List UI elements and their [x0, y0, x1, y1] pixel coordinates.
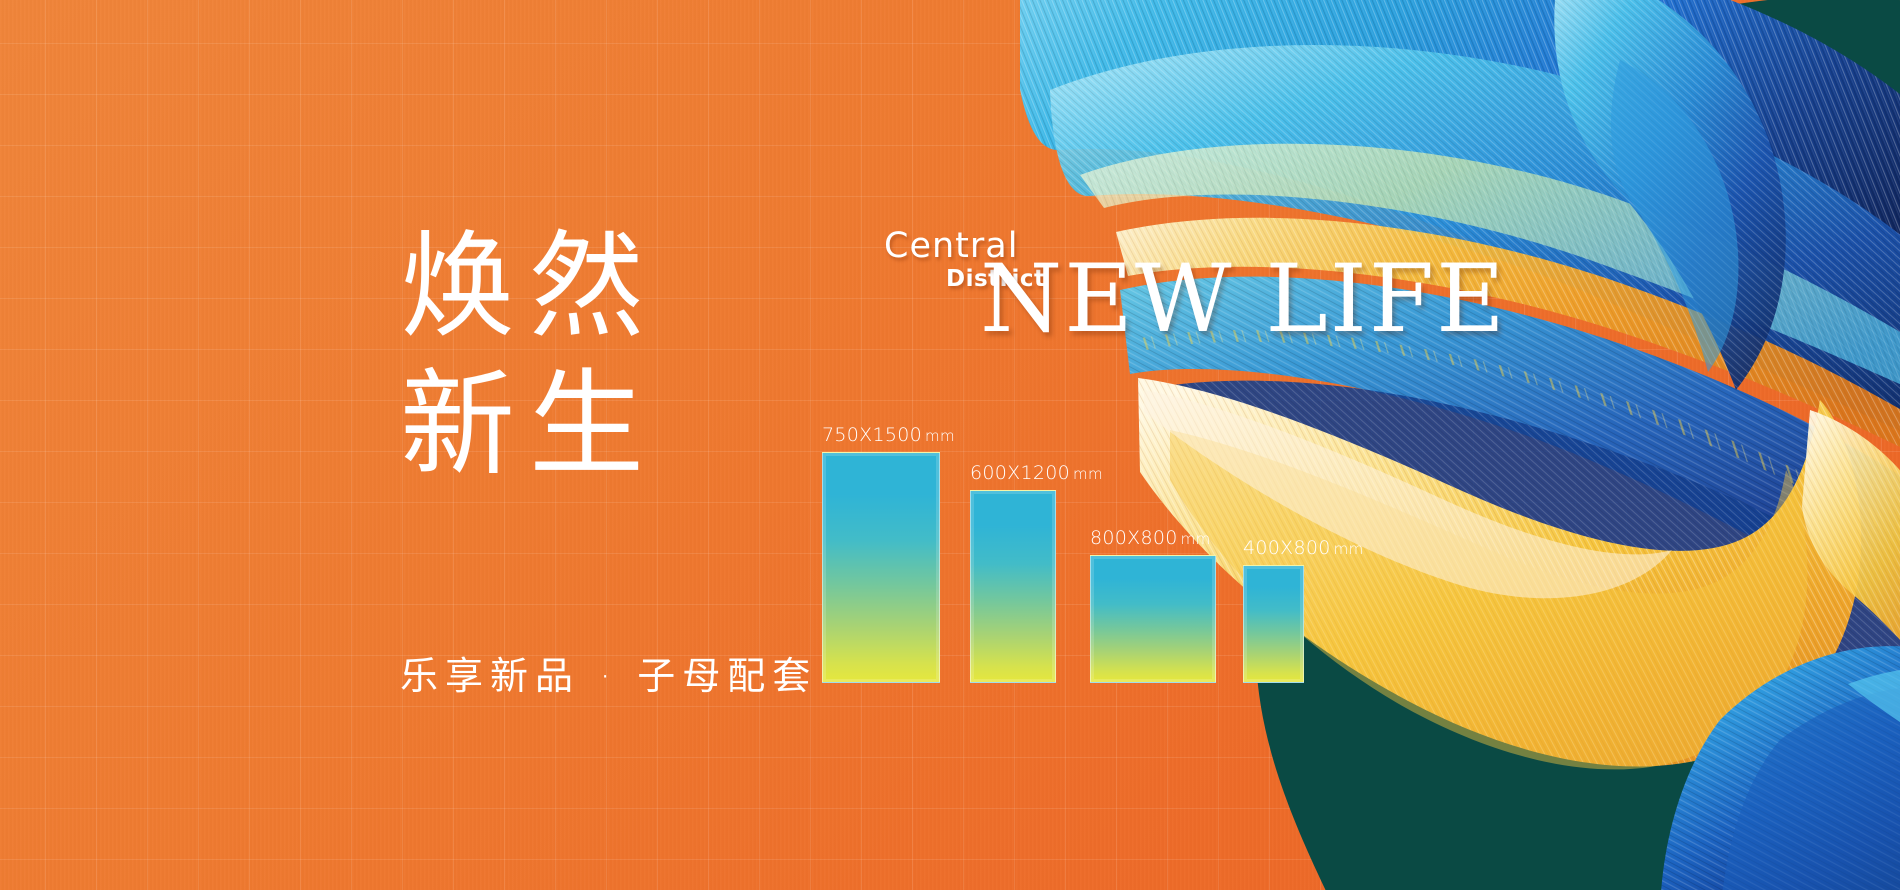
chart-bar-2[interactable]: 600X1200mm [970, 490, 1056, 683]
fan-top-right-petal [1554, 0, 1785, 390]
chart-bar-1[interactable]: 750X1500mm [822, 452, 940, 683]
chart-bar-label-4: 400X800mm [1243, 537, 1363, 559]
bar-dimension-text: 600X1200 [970, 462, 1070, 484]
fan-lower-blue [1660, 646, 1900, 890]
bar-unit-text: mm [1181, 530, 1211, 548]
subtitle: 乐享新品 · 子母配套 [400, 645, 817, 700]
chart-bar-4[interactable]: 400X800mm [1243, 565, 1304, 683]
chart-bar-rect-1 [822, 452, 940, 683]
headline: 焕然 新生 [400, 222, 820, 490]
english-title: NEW LIFE [980, 250, 1507, 350]
promotional-banner: 焕然 新生 乐享新品 · 子母配套 Central District NEW L… [0, 0, 1900, 890]
chart-bar-label-3: 800X800mm [1090, 527, 1210, 549]
bar-unit-text: mm [1334, 540, 1364, 558]
chart-bar-rect-4 [1243, 565, 1304, 683]
headline-line-1: 焕然 [400, 222, 820, 352]
teal-shape-bottom [1256, 598, 1720, 890]
chart-bar-rect-3 [1090, 555, 1216, 683]
bar-dimension-text: 750X1500 [822, 424, 922, 446]
chart-bar-label-2: 600X1200mm [970, 462, 1103, 484]
chart-bar-3[interactable]: 800X800mm [1090, 555, 1216, 683]
bar-unit-text: mm [1073, 465, 1103, 483]
chart-bar-label-1: 750X1500mm [822, 424, 955, 446]
abstract-fan-svg [1020, 0, 1900, 890]
bar-dimension-text: 800X800 [1090, 527, 1178, 549]
size-comparison-chart: 750X1500mm600X1200mm800X800mm400X800mm [0, 0, 1900, 890]
abstract-fan-artwork [1020, 0, 1900, 890]
teal-shape-top [1639, 0, 1900, 390]
headline-line-2: 新生 [400, 360, 820, 490]
bar-unit-text: mm [925, 427, 955, 445]
bar-dimension-text: 400X800 [1243, 537, 1331, 559]
chart-bar-rect-2 [970, 490, 1056, 683]
